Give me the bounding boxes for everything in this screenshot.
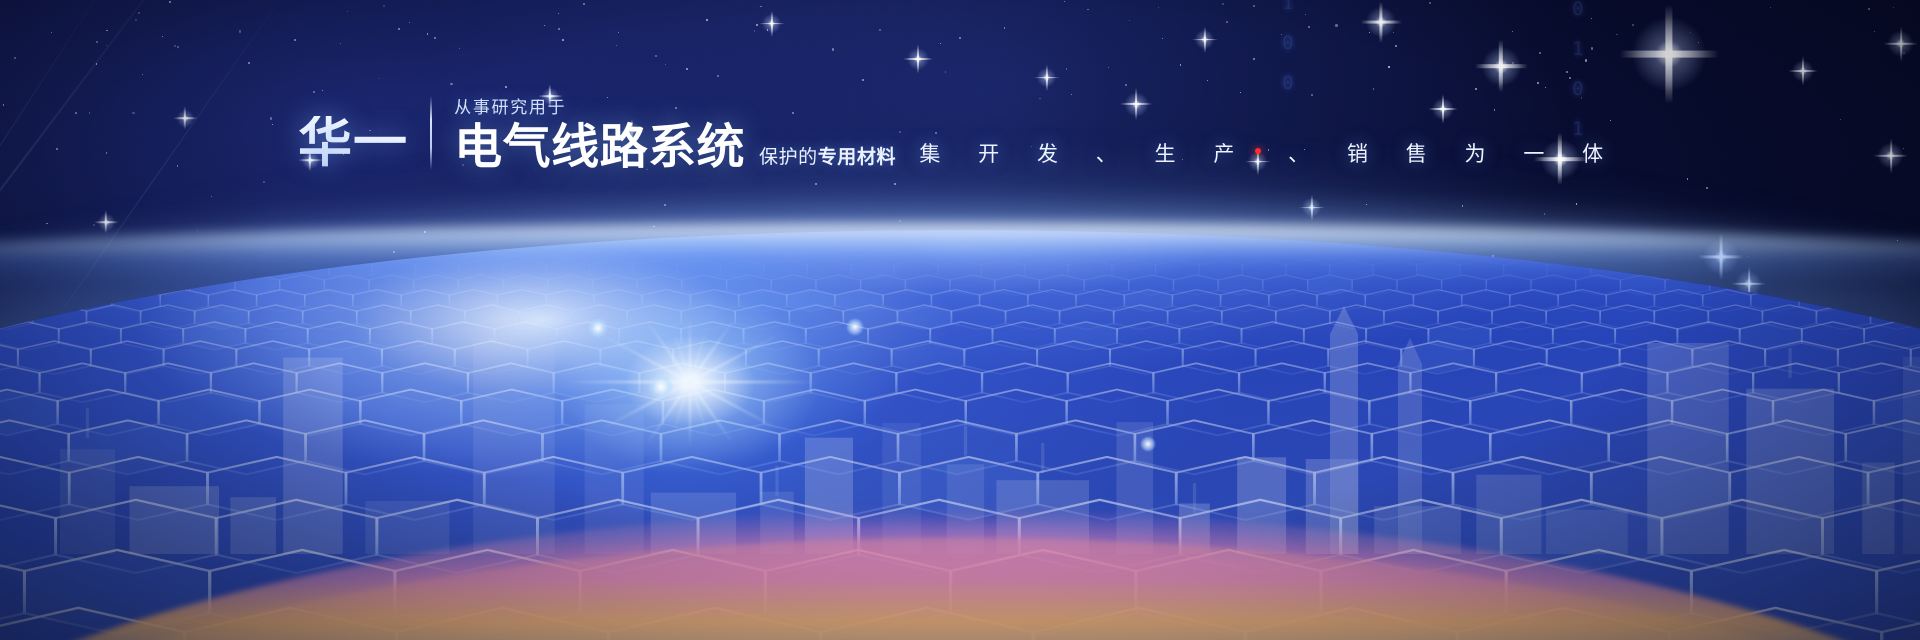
star-dot (583, 3, 585, 5)
star-dot (717, 75, 719, 77)
star-dot (1369, 32, 1370, 33)
banner-copy: 华一 从事研究用于 电气线路系统 保护的专用材料 集开发、生产、销售为一体 (0, 96, 1920, 172)
star-dot (940, 43, 941, 44)
star-dot (1366, 204, 1367, 205)
subline-text: 集开发、生产、销售为一体 (900, 138, 1622, 168)
star-dot (174, 45, 176, 47)
subline-char: 生 (1136, 138, 1195, 168)
star-dot (106, 30, 108, 32)
sparkle-star (760, 12, 783, 35)
star-dot (409, 22, 410, 23)
star-dot (1569, 77, 1571, 79)
star-dot (562, 39, 564, 41)
star-dot (1222, 3, 1224, 5)
headline-text: 电气线路系统 (454, 124, 745, 172)
star-dot (1308, 26, 1310, 28)
star-dot (1544, 213, 1546, 215)
title-divider (430, 96, 432, 170)
star-dot (211, 196, 212, 197)
star-dot (1585, 59, 1587, 61)
star-dot (1162, 38, 1163, 39)
subline-char: 、 (1077, 138, 1136, 168)
star-dot (1395, 45, 1397, 47)
star-dot (450, 83, 452, 85)
star-dot (427, 33, 428, 34)
subline-char: 为 (1446, 138, 1505, 168)
star-dot (879, 29, 881, 31)
star-dot (756, 24, 758, 26)
star-dot (398, 28, 400, 30)
star-dot (248, 62, 250, 64)
star-dot (434, 37, 436, 39)
subline-char: 、 (1269, 138, 1328, 168)
star-dot (322, 90, 323, 91)
star-dot (1706, 187, 1708, 189)
star-dot (459, 48, 460, 49)
star-dot (665, 64, 666, 65)
title-row: 华一 从事研究用于 电气线路系统 保护的专用材料 (298, 96, 896, 172)
sparkle-star (1300, 196, 1323, 219)
star-dot (138, 12, 140, 14)
star-dot (1393, 32, 1395, 34)
star-dot (1253, 5, 1255, 7)
star-dot (655, 55, 657, 57)
star-dot (754, 30, 756, 32)
star-dot (1429, 2, 1431, 4)
star-dot (93, 224, 95, 226)
star-dot (894, 183, 896, 185)
atmosphere-glow-inner (0, 224, 1920, 282)
star-dot (1180, 64, 1182, 66)
star-dot (862, 79, 864, 81)
star-dot (1591, 47, 1593, 49)
title-stack: 从事研究用于 电气线路系统 保护的专用材料 (454, 98, 896, 172)
star-dot (313, 91, 315, 93)
star-dot (1591, 18, 1592, 19)
sparkle-star (1035, 66, 1058, 89)
star-dot (832, 48, 834, 50)
star-dot (347, 11, 348, 12)
headline-row: 电气线路系统 保护的专用材料 (454, 124, 896, 172)
star-dot (1462, 205, 1464, 207)
star-dot (505, 86, 507, 88)
sparkle-star (1193, 28, 1216, 51)
star-dot (96, 63, 98, 65)
subline-char: 发 (1018, 138, 1077, 168)
star-dot (169, 1, 171, 3)
star-dot (1566, 71, 1568, 73)
star-dot (135, 19, 137, 21)
star-dot (106, 45, 107, 46)
hero-banner: 0 1 0 1 1 0 0 (0, 0, 1920, 640)
star-dot (1537, 82, 1539, 84)
star-dot (1335, 24, 1337, 26)
star-dot (1071, 94, 1072, 95)
star-dot (686, 68, 688, 70)
star-dot (1893, 7, 1894, 8)
binary-code-top-right-2: 1 0 0 (1282, 0, 1300, 104)
star-dot (959, 37, 961, 39)
star-dot (618, 32, 619, 33)
star-dot (340, 43, 341, 44)
star-dot (14, 57, 16, 59)
sparkle-star (905, 46, 931, 72)
subline-char: 售 (1387, 138, 1446, 168)
star-dot (162, 36, 163, 37)
sparkle-star (1625, 10, 1713, 98)
star-dot (1576, 203, 1578, 205)
star-dot (142, 74, 143, 75)
subline-char: 销 (1328, 138, 1387, 168)
star-dot (558, 13, 559, 14)
tagline-light: 保护的 (759, 147, 818, 168)
star-dot (51, 32, 52, 33)
star-dot (1868, 8, 1870, 10)
tagline-bold: 专用材料 (818, 147, 896, 168)
star-dot (383, 5, 385, 7)
star-dot (1373, 88, 1375, 90)
sparkle-star (1478, 43, 1525, 90)
star-dot (1108, 67, 1109, 68)
sparkle-star (1790, 58, 1816, 84)
subline-char: 开 (959, 138, 1018, 168)
star-dot (239, 30, 241, 32)
star-dot (1064, 1, 1065, 2)
star-dot (815, 183, 817, 185)
star-dot (664, 204, 666, 206)
star-dot (1545, 87, 1546, 88)
star-dot (1253, 58, 1255, 60)
star-dot (1388, 66, 1390, 68)
star-dot (1281, 34, 1282, 35)
star-dot (544, 25, 545, 26)
star-dot (177, 46, 179, 48)
sparkle-star (1885, 28, 1916, 59)
brand-name: 华一 (298, 116, 430, 172)
star-dot (46, 223, 47, 224)
star-dot (1240, 92, 1242, 94)
star-dot (1698, 42, 1699, 43)
star-dot (558, 28, 560, 30)
star-dot (1539, 52, 1541, 54)
star-dot (379, 78, 380, 79)
star-dot (1004, 27, 1006, 29)
subline-char: 集 (900, 138, 959, 168)
star-dot (1770, 7, 1771, 8)
subline-char: 体 (1563, 138, 1622, 168)
sparkle-star (1363, 4, 1399, 40)
star-dot (1874, 31, 1875, 32)
accent-dot (1255, 148, 1261, 154)
star-dot (294, 39, 296, 41)
star-dot (1125, 84, 1127, 86)
star-dot (1226, 21, 1228, 23)
star-dot (1903, 52, 1905, 54)
star-dot (1305, 14, 1306, 15)
star-dot (1207, 80, 1208, 81)
star-dot (1087, 9, 1088, 10)
star-dot (616, 45, 617, 46)
star-dot (706, 19, 708, 21)
star-dot (1512, 31, 1513, 32)
star-dot (1632, 24, 1634, 26)
star-dot (96, 41, 98, 43)
star-dot (1475, 88, 1476, 89)
star-dot (760, 6, 762, 8)
star-dot (1512, 62, 1514, 64)
star-dot (1129, 20, 1130, 21)
tagline-text: 保护的专用材料 (759, 148, 896, 172)
star-dot (1066, 68, 1068, 70)
eyebrow-text: 从事研究用于 (454, 98, 566, 118)
star-dot (1690, 32, 1691, 33)
star-dot (1616, 34, 1617, 35)
subline-char: 产 (1194, 138, 1253, 168)
subline-char: 一 (1504, 138, 1563, 168)
star-dot (945, 71, 946, 72)
star-dot (263, 181, 265, 183)
star-dot (767, 29, 769, 31)
star-dot (1687, 178, 1688, 179)
star-dot (1158, 7, 1159, 8)
